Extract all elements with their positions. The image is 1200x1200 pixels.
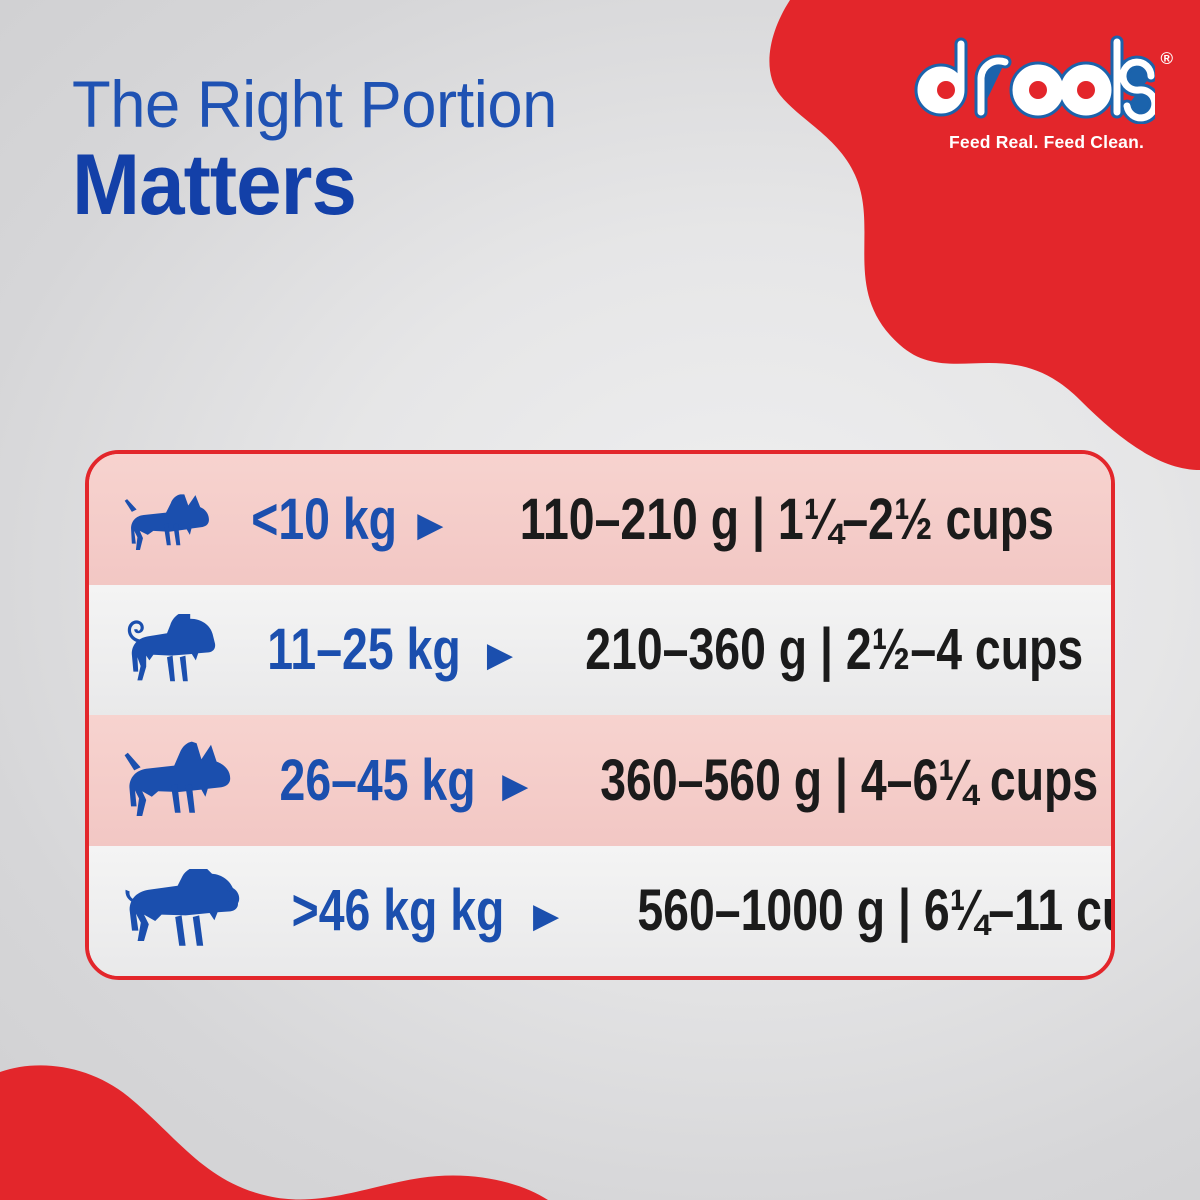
registered-trademark-icon: ®	[1160, 50, 1173, 67]
weight-range: 11–25 kg	[267, 616, 461, 683]
large-dog-icon	[111, 715, 251, 846]
giant-dog-icon	[111, 846, 261, 977]
page-title: The Right Portion Matters	[72, 72, 577, 227]
small-dog-icon	[111, 454, 229, 585]
arrow-right-icon: ▶	[533, 899, 559, 933]
row-text: <10 kg ▶ 110–210 g | 1¼–2½ cups	[233, 486, 1115, 553]
medium-dog-icon	[111, 585, 239, 716]
poster-canvas: The Right Portion Matters	[0, 0, 1200, 1200]
portion-amount: 360–560 g | 4–6¼ cups	[600, 747, 1098, 814]
headline-line-1: The Right Portion	[72, 72, 557, 137]
bottom-left-red-blob	[0, 1065, 548, 1200]
weight-range: 26–45 kg	[280, 747, 476, 814]
table-row[interactable]: <10 kg ▶ 110–210 g | 1¼–2½ cups	[89, 454, 1111, 585]
portion-amount: 210–360 g | 2½–4 cups	[585, 616, 1083, 683]
table-row[interactable]: 26–45 kg ▶ 360–560 g | 4–6¼ cups	[89, 715, 1111, 846]
drools-wordmark-icon	[905, 28, 1155, 124]
arrow-right-icon: ▶	[487, 638, 513, 672]
portion-amount: 110–210 g | 1¼–2½ cups	[520, 486, 1054, 553]
table-row[interactable]: >46 kg kg ▶ 560–1000 g | 6¼–11 cups	[89, 846, 1111, 977]
table-row[interactable]: 11–25 kg ▶ 210–360 g | 2½–4 cups	[89, 585, 1111, 716]
row-text: >46 kg kg ▶ 560–1000 g | 6¼–11 cups	[265, 877, 1115, 944]
arrow-right-icon: ▶	[502, 769, 528, 803]
arrow-right-icon: ▶	[417, 508, 443, 542]
headline-line-2: Matters	[72, 143, 552, 227]
portion-amount: 560–1000 g | 6¼–11 cups	[638, 877, 1115, 944]
row-text: 26–45 kg ▶ 360–560 g | 4–6¼ cups	[255, 747, 1115, 814]
brand-logo[interactable]: ® Feed Real. Feed Clean.	[905, 28, 1175, 163]
weight-range: >46 kg kg	[292, 877, 505, 944]
brand-tagline: Feed Real. Feed Clean.	[949, 132, 1144, 153]
row-text: 11–25 kg ▶ 210–360 g | 2½–4 cups	[243, 616, 1115, 683]
weight-range: <10 kg	[251, 486, 397, 553]
feeding-guide-card: <10 kg ▶ 110–210 g | 1¼–2½ cups 11–25 kg…	[85, 450, 1115, 980]
